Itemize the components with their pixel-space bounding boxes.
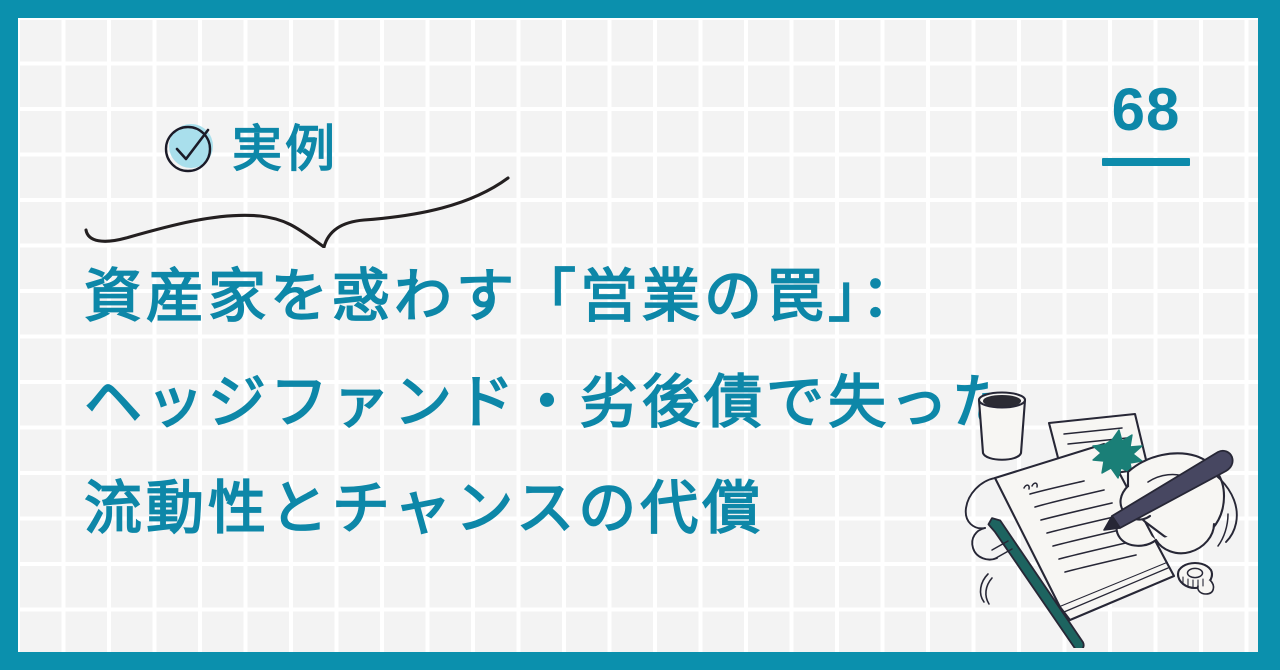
page-number-rule	[1102, 158, 1190, 166]
eyebrow-label: 実例	[232, 124, 338, 174]
page-number: 68	[1102, 80, 1190, 166]
hand-writing-in-notebook-illustration	[952, 378, 1252, 648]
page-title: 資産家を惑わす「営業の罠」： ヘッジファンド・劣後債で失った 流動性とチャンスの…	[84, 244, 1014, 562]
page-number-value: 68	[1102, 80, 1190, 140]
title-line-2: ヘッジファンド・劣後債で失った	[84, 350, 1014, 456]
grid-paper-background: 実例 68 資産家を惑わす「営業の罠」： ヘッジファンド・劣後債で失った 流動性…	[18, 18, 1258, 652]
tape-roll-icon	[1178, 563, 1213, 594]
slide-root: 実例 68 資産家を惑わす「営業の罠」： ヘッジファンド・劣後債で失った 流動性…	[0, 0, 1280, 670]
title-line-1: 資産家を惑わす「営業の罠」：	[84, 244, 1014, 350]
eyebrow-badge: 実例	[158, 118, 338, 180]
title-line-3: 流動性とチャンスの代償	[84, 456, 1014, 562]
underline-swoosh-icon	[78, 168, 538, 248]
check-circle-icon	[158, 118, 220, 180]
coffee-cup-icon	[979, 393, 1025, 460]
